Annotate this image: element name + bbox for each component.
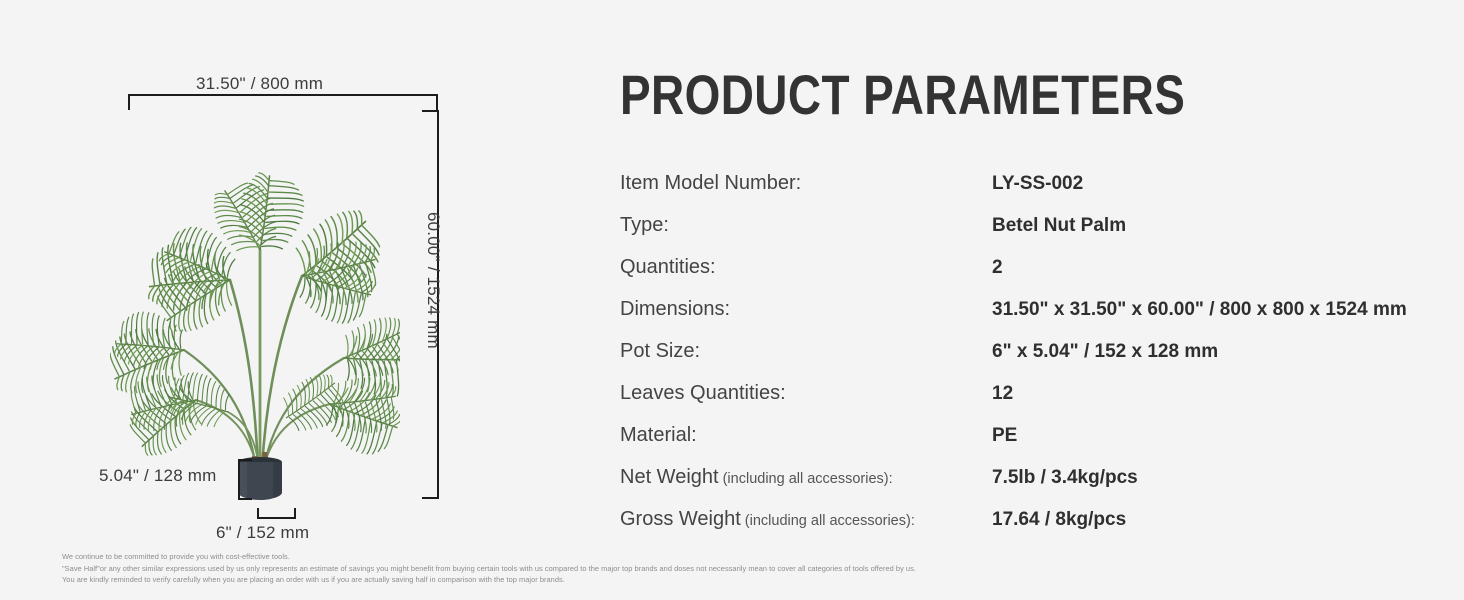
table-row: Item Model Number: LY-SS-002	[620, 172, 1460, 214]
param-label: Type:	[620, 214, 992, 237]
param-label-note: (including all accessories):	[719, 471, 893, 487]
pot-height-dimension-label: 5.04" / 128 mm	[99, 466, 217, 486]
pot-height-dimension-bracket	[238, 459, 252, 500]
table-row: Quantities: 2	[620, 256, 1460, 298]
param-label: Item Model Number:	[620, 172, 992, 195]
param-value: PE	[992, 425, 1017, 447]
param-label-note: (including all accessories):	[741, 513, 915, 529]
param-value: 7.5lb / 3.4kg/pcs	[992, 467, 1138, 489]
table-row: Net Weight (including all accessories): …	[620, 466, 1460, 508]
param-label: Material:	[620, 424, 992, 447]
param-value: 12	[992, 383, 1013, 405]
product-parameters-page: 31.50" / 800 mm 60.00" / 1524 mm 5.04" /…	[0, 0, 1464, 600]
table-row: Material: PE	[620, 424, 1460, 466]
table-row: Type: Betel Nut Palm	[620, 214, 1460, 256]
page-title: PRODUCT PARAMETERS	[620, 66, 1185, 124]
pot-width-dimension-bracket	[257, 508, 296, 519]
param-label: Net Weight (including all accessories):	[620, 466, 992, 489]
product-image-panel: 31.50" / 800 mm 60.00" / 1524 mm 5.04" /…	[0, 0, 600, 600]
palm-plant-illustration	[110, 100, 400, 500]
param-value: LY-SS-002	[992, 173, 1083, 195]
pot-width-dimension-label: 6" / 152 mm	[216, 523, 309, 543]
table-row: Gross Weight (including all accessories)…	[620, 508, 1460, 550]
param-value: 17.64 / 8kg/pcs	[992, 509, 1126, 531]
param-label: Leaves Quantities:	[620, 382, 992, 405]
table-row: Leaves Quantities: 12	[620, 382, 1460, 424]
param-value: Betel Nut Palm	[992, 215, 1126, 237]
parameters-table: Item Model Number: LY-SS-002 Type: Betel…	[620, 172, 1460, 550]
parameters-panel: PRODUCT PARAMETERS Item Model Number: LY…	[600, 0, 1464, 600]
height-dimension-label: 60.00" / 1524 mm	[423, 212, 443, 349]
param-value: 31.50" x 31.50" x 60.00" / 800 x 800 x 1…	[992, 299, 1407, 321]
width-dimension-bracket	[128, 94, 438, 110]
width-dimension-label: 31.50" / 800 mm	[196, 74, 323, 94]
table-row: Dimensions: 31.50" x 31.50" x 60.00" / 8…	[620, 298, 1460, 340]
param-label: Pot Size:	[620, 340, 992, 363]
table-row: Pot Size: 6" x 5.04" / 152 x 128 mm	[620, 340, 1460, 382]
param-label: Quantities:	[620, 256, 992, 279]
param-value: 2	[992, 257, 1003, 279]
param-label: Gross Weight (including all accessories)…	[620, 508, 992, 531]
param-value: 6" x 5.04" / 152 x 128 mm	[992, 341, 1218, 363]
param-label: Dimensions:	[620, 298, 992, 321]
